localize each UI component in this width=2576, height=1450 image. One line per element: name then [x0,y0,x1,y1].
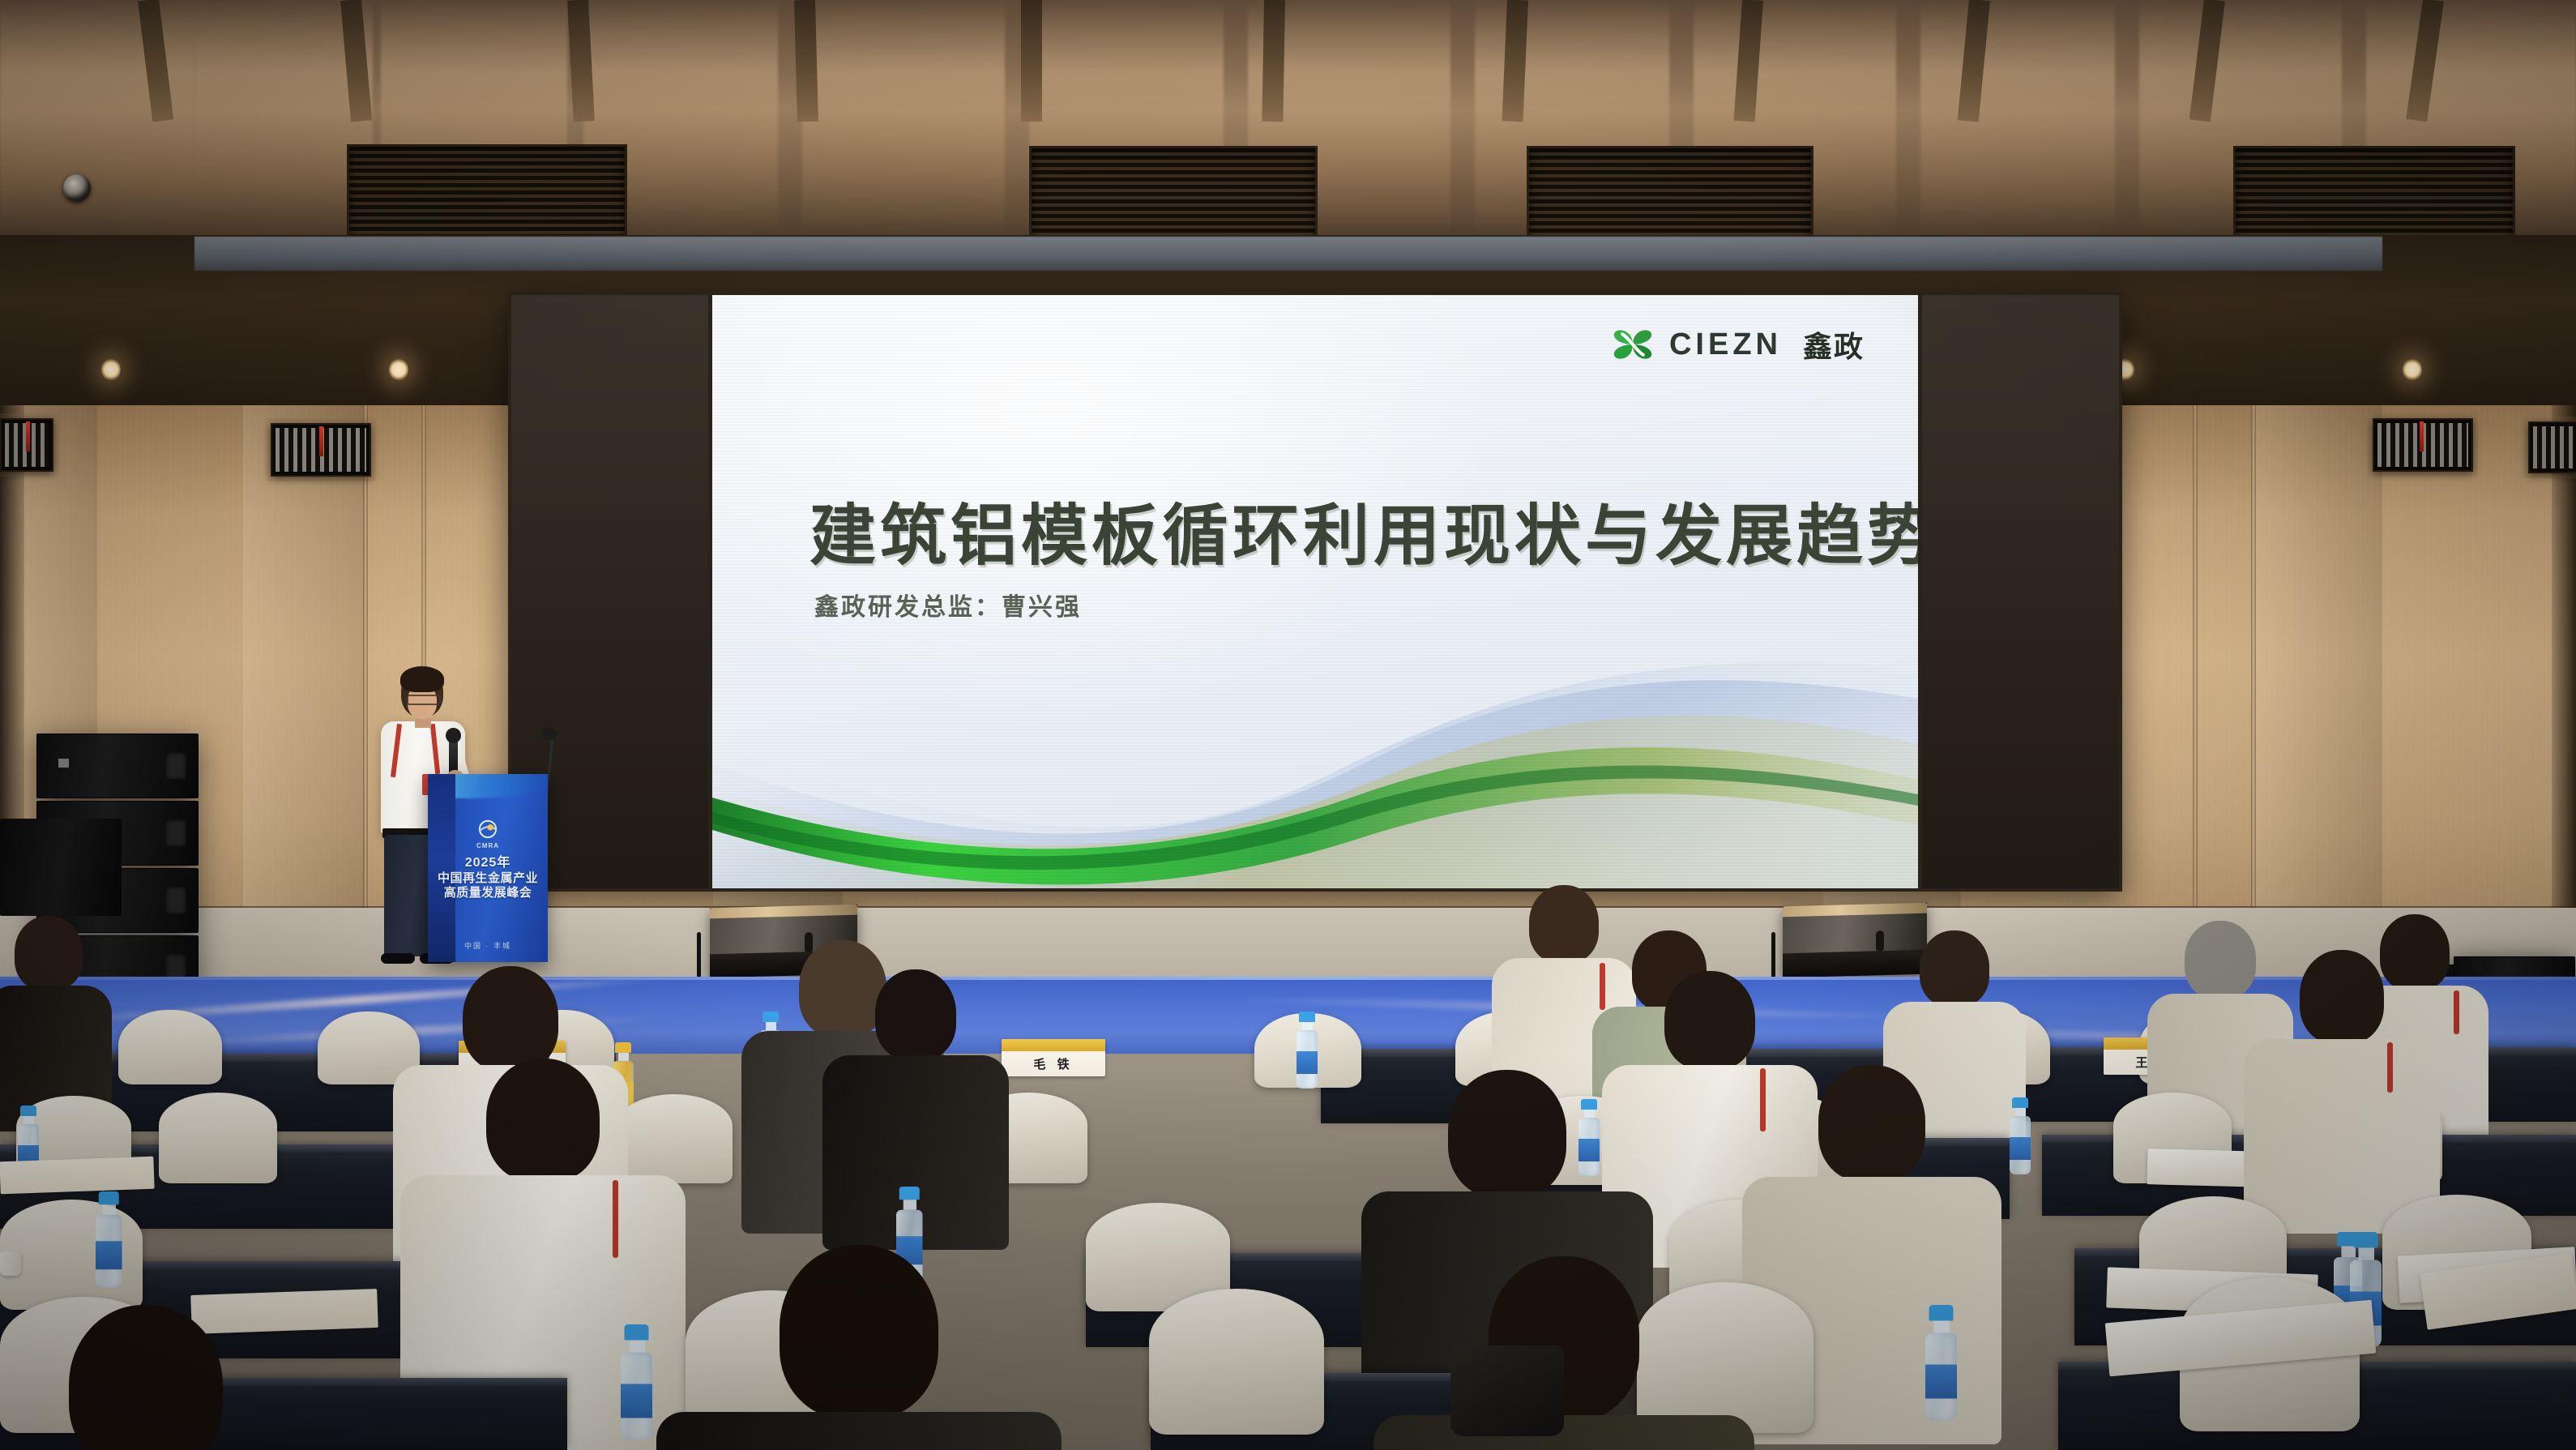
water-bottle [1925,1305,1957,1421]
brand-logo: CIEZN 鑫政 [1609,321,1865,368]
wall-niche-3 [2373,418,2473,472]
podium-event-title: 2025年 中国再生金属产业 高质量发展峰会 [428,855,548,900]
name-card-maotie: 毛 铁 [1002,1039,1105,1076]
chair-r2-3[interactable] [616,1094,733,1183]
chair-r1-2[interactable] [118,1010,222,1084]
podium-line-3: 高质量发展峰会 [428,886,548,900]
presentation-slide: CIEZN 鑫政 建筑铝模板循环利用现状与发展趋势 鑫政研发总监：曹兴强 [712,295,1918,888]
chair-r2-2[interactable] [159,1093,277,1183]
podium-line-2: 中国再生金属产业 [428,871,548,886]
conference-hall-photo: [data-name^="downlight-"]{top:442px !imp… [0,0,2576,1450]
water-bottle [96,1191,122,1288]
podium-location: 中国 · 丰城 [428,940,548,951]
notepad [190,1289,378,1334]
stage-monitor-right [1783,903,1927,978]
downlight-1 [101,358,121,381]
stand-microphone-icon [541,728,557,740]
notepad [0,1157,155,1195]
led-wall-right-panel [1922,295,2119,888]
floor-bag [1450,1345,1564,1436]
speaker-glasses-icon [407,695,441,705]
ciezn-pinwheel-logo-icon [1609,321,1656,368]
speaker-podium: CMRA 2025年 中国再生金属产业 高质量发展峰会 中国 · 丰城 [428,774,548,962]
podium-year: 2025年 [428,855,548,871]
led-video-wall: CIEZN 鑫政 建筑铝模板循环利用现状与发展趋势 鑫政研发总监：曹兴强 [508,292,2122,892]
chair-r4-3[interactable] [1149,1289,1324,1435]
slide-subtitle: 鑫政研发总监：曹兴强 [814,587,1082,622]
wall-niche-1 [0,418,53,472]
downlight-2 [389,358,408,381]
wall-niche-2 [271,423,371,477]
slide-wave-graphic [712,621,1918,888]
speaker-shoe-left [381,953,415,964]
logo-latin-text: CIEZN [1669,329,1782,360]
name-card-text: 毛 铁 [1002,1051,1105,1076]
chair-r4-4[interactable] [1637,1282,1813,1433]
water-bottle [2010,1097,2031,1174]
slide-title: 建筑铝模板循环利用现状与发展趋势 [810,481,1918,578]
water-bottle [1297,1012,1318,1089]
logo-chinese-text: 鑫政 [1803,323,1865,366]
downlight-9 [2403,358,2422,381]
water-bottle [1578,1099,1600,1176]
subwoofer-left [0,819,122,916]
podium-org-abbrev: CMRA [476,842,499,849]
water-bottle [621,1324,652,1440]
ceiling-dome-camera-icon [63,174,91,202]
speaker-hair [400,666,444,692]
wall-niche-4 [2528,421,2576,473]
cmra-logo-icon [474,816,502,844]
paper-cup [0,1251,21,1276]
microphone-head-icon [446,728,461,743]
